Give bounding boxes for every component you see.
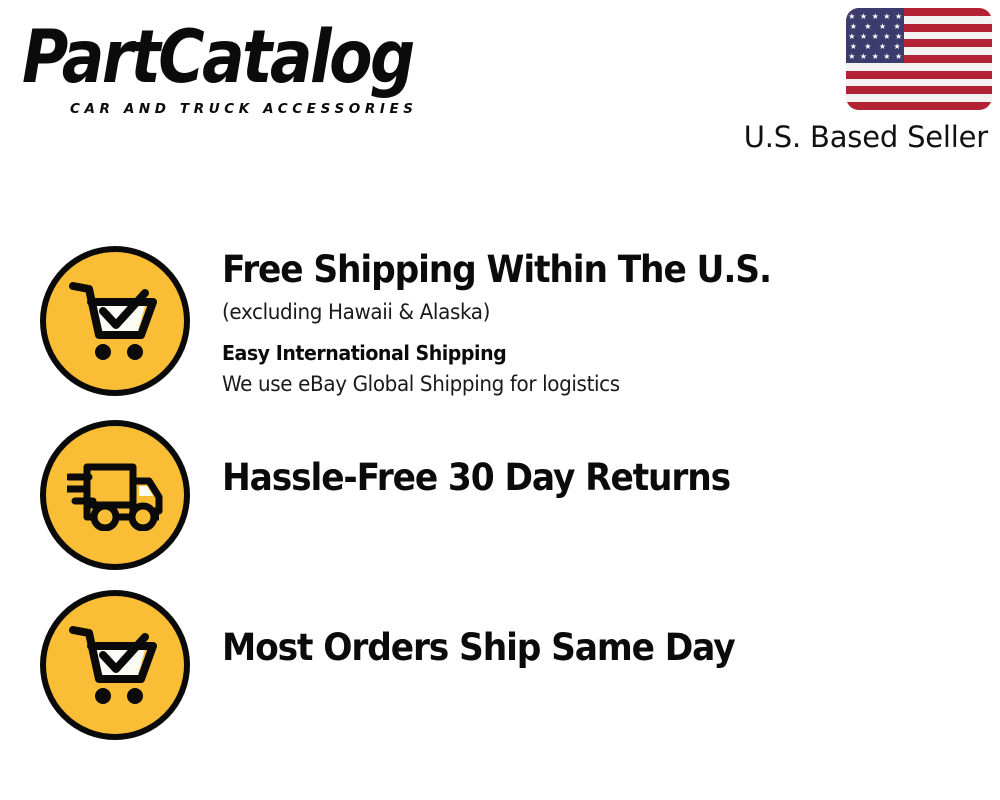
shopping-cart-check-icon <box>40 246 190 396</box>
feature-heading: Most Orders Ship Same Day <box>222 628 735 668</box>
feature-row: Free Shipping Within The U.S. (excluding… <box>40 246 812 399</box>
flag-stripe <box>846 63 992 71</box>
flag-star-row: ★★★★★ <box>846 53 904 61</box>
flag-stripe <box>846 94 992 102</box>
flag-stripe <box>846 102 992 110</box>
feature-heading: Free Shipping Within The U.S. <box>222 250 771 290</box>
flag-stripe <box>846 71 992 79</box>
feature-text: Most Orders Ship Same Day <box>190 590 773 668</box>
us-based-seller-label: U.S. Based Seller <box>722 120 992 154</box>
brand-tagline: CAR AND TRUCK ACCESSORIES <box>22 101 492 117</box>
flag-stripe <box>846 86 992 94</box>
feature-text: Free Shipping Within The U.S. (excluding… <box>190 246 812 399</box>
flag-star-row: ★★★★ <box>846 23 904 31</box>
promo-banner: PartCatalog CAR AND TRUCK ACCESSORIES ★★… <box>0 0 1000 800</box>
flag-canton: ★★★★★ ★★★★ ★★★★★ ★★★★ ★★★★★ <box>846 8 904 63</box>
feature-row: Hassle-Free 30 Day Returns <box>40 420 768 570</box>
us-flag-icon: ★★★★★ ★★★★ ★★★★★ ★★★★ ★★★★★ <box>846 8 992 110</box>
flag-star-row: ★★★★★ <box>846 13 904 21</box>
delivery-truck-icon <box>40 420 190 570</box>
shopping-cart-check-icon <box>40 590 190 740</box>
flag-star-row: ★★★★★ <box>846 33 904 41</box>
feature-row: Most Orders Ship Same Day <box>40 590 773 740</box>
brand-logo: PartCatalog CAR AND TRUCK ACCESSORIES <box>22 22 492 117</box>
us-based-seller-badge: ★★★★★ ★★★★ ★★★★★ ★★★★ ★★★★★ U.S. Based S… <box>722 8 992 154</box>
feature-text: Hassle-Free 30 Day Returns <box>190 420 768 498</box>
flag-star-row: ★★★★ <box>846 43 904 51</box>
feature-subdetail: We use eBay Global Shipping for logistic… <box>222 370 783 398</box>
feature-subtext: (excluding Hawaii & Alaska) <box>222 298 783 326</box>
feature-heading: Hassle-Free 30 Day Returns <box>222 458 730 498</box>
feature-subheading: Easy International Shipping <box>222 340 783 367</box>
flag-stripe <box>846 79 992 87</box>
brand-wordmark: PartCatalog <box>22 22 501 94</box>
